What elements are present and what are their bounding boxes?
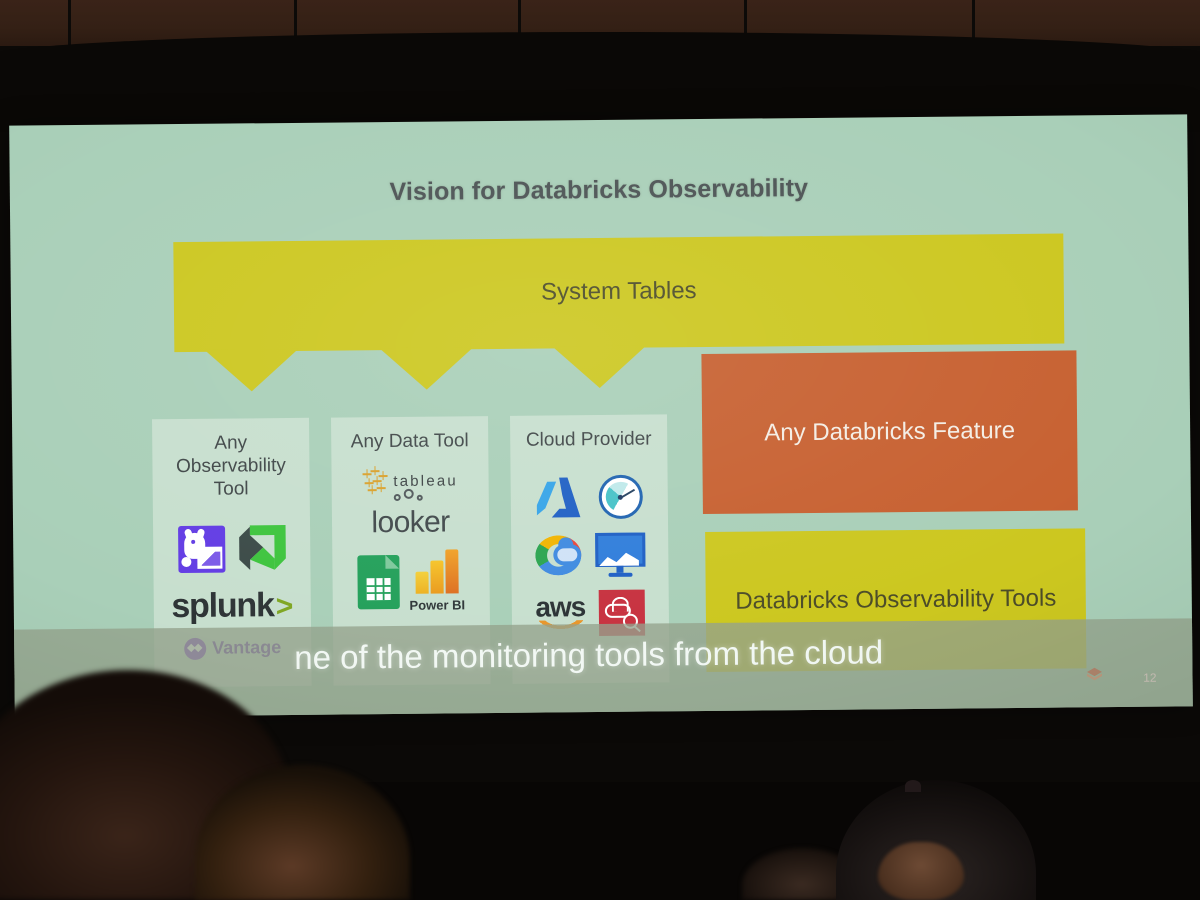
google-cloud-logo	[535, 535, 581, 575]
projected-slide: Vision for Databricks Observability Syst…	[9, 114, 1193, 717]
looker-wordmark: looker	[371, 506, 449, 540]
splunk-wordmark: splunk	[171, 586, 274, 626]
power-bi-logo: Power BI	[409, 549, 465, 613]
banner-body: System Tables	[173, 234, 1064, 353]
looker-bubble-icon	[404, 489, 414, 499]
databricks-logo	[1084, 665, 1104, 685]
page-number: 12	[1143, 671, 1156, 685]
cloud-monitoring-logo	[595, 533, 645, 577]
banner-label: System Tables	[174, 274, 1064, 311]
arrow-down-icon	[204, 349, 298, 392]
splunk-chevron-icon: >	[276, 589, 294, 623]
arrow-down-icon	[552, 346, 646, 389]
card-title: Any Observability Tool	[166, 431, 297, 502]
arrow-down-icon	[379, 347, 473, 390]
google-sheets-logo	[357, 555, 400, 609]
splunk-logo: splunk >	[171, 585, 293, 625]
panel-any-databricks-feature: Any Databricks Feature	[701, 350, 1078, 514]
tableau-mark-icon	[362, 469, 388, 493]
page-title: Vision for Databricks Observability	[10, 170, 1188, 210]
power-bi-bars-icon	[415, 550, 458, 594]
azure-logo	[536, 477, 580, 517]
looker-bubble-icon	[417, 495, 423, 501]
azure-monitor-logo	[598, 475, 642, 519]
datadog-logo	[178, 525, 225, 572]
tableau-wordmark: tableau	[393, 472, 458, 490]
aws-wordmark: aws	[535, 594, 585, 620]
card-title: Any Data Tool	[345, 429, 475, 453]
dynatrace-logo	[239, 525, 286, 572]
panel-label: Databricks Observability Tools	[735, 583, 1056, 617]
power-bi-wordmark: Power BI	[409, 597, 465, 613]
looker-logo: looker	[371, 506, 449, 541]
card-title: Cloud Provider	[524, 427, 654, 451]
looker-bubble-icon	[394, 494, 401, 501]
audience-face-silhouette	[878, 842, 964, 900]
caption-text: ne of the monitoring tools from the clou…	[294, 633, 883, 677]
cap-button-detail	[905, 780, 921, 792]
conference-room-photo: Vision for Databricks Observability Syst…	[0, 0, 1200, 900]
